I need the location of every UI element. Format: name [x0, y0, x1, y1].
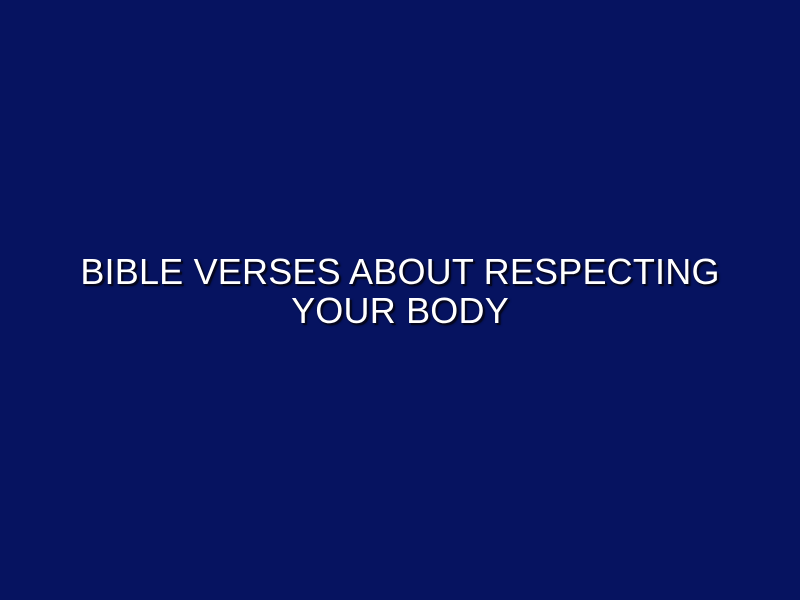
title-block: BIBLE VERSES ABOUT RESPECTING YOUR BODY: [0, 252, 800, 330]
page-title: BIBLE VERSES ABOUT RESPECTING YOUR BODY: [40, 252, 760, 330]
hero-banner: BIBLE VERSES ABOUT RESPECTING YOUR BODY: [0, 0, 800, 600]
